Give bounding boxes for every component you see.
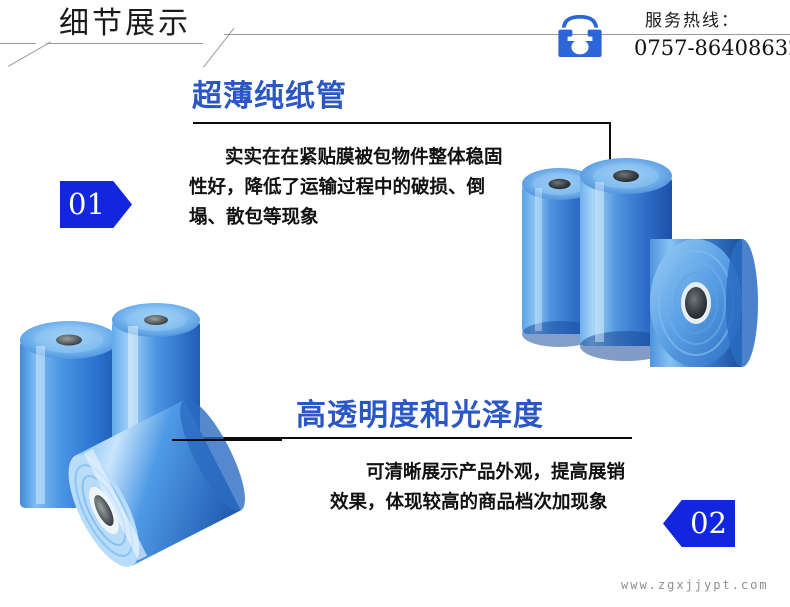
product-image-shrink-film-rolls-top — [495, 146, 785, 381]
section-2-body-text: 可清晰展示产品外观，提高展销效果，体现较高的商品档次加现象 — [330, 458, 630, 518]
section-1-badge-number: 01 — [60, 181, 132, 228]
hotline-label: 服务热线： — [645, 10, 740, 32]
section-1-leader-horizontal — [193, 122, 611, 124]
hotline-number: 0757-86408632 — [634, 36, 790, 61]
header-diagonal-left — [8, 42, 51, 67]
section-2-title: 高透明度和光泽度 — [296, 396, 544, 436]
section-2-badge-number: 02 — [663, 500, 735, 547]
section-1-title: 超薄纯纸管 — [192, 77, 347, 117]
product-image-shrink-film-rolls-bottom — [2, 296, 282, 574]
watermark: www.zgxjjypt.com — [621, 578, 769, 592]
header-rule-right — [224, 34, 790, 35]
page-header: 细节展示 服务热线： 0757-86408632 — [0, 0, 790, 72]
header-rule-left — [0, 43, 36, 44]
section-1-badge: 01 — [60, 181, 132, 228]
telephone-icon — [556, 14, 604, 58]
section-1-body-text: 实实在在紧贴膜被包物件整体稳固性好，降低了运输过程中的破损、倒塌、散包等现象 — [189, 143, 509, 233]
header-rule-title-underline — [46, 43, 203, 44]
page-title: 细节展示 — [59, 4, 191, 44]
section-2-badge: 02 — [663, 500, 735, 547]
